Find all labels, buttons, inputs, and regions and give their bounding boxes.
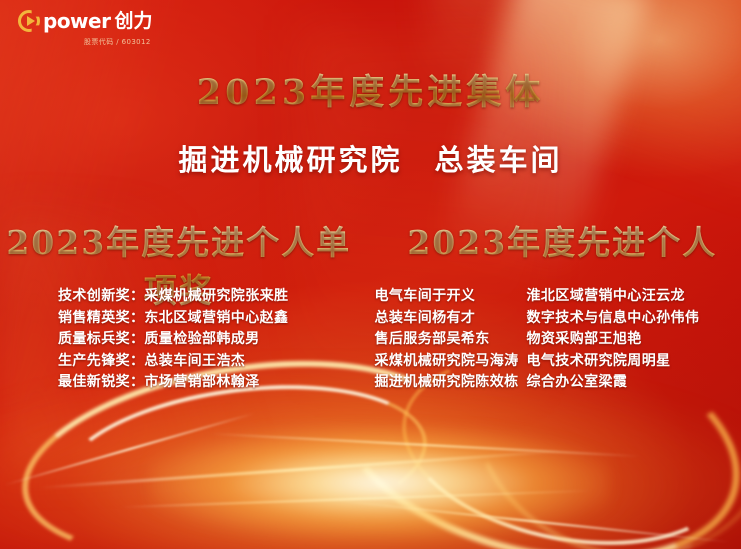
stock-code-label: 股票代码 / 603012 [84, 37, 208, 47]
list-item: 售后服务部吴希东 物资采购部王旭艳 [375, 329, 741, 351]
single-award-list: 技术创新奖：采煤机械研究院张来胜 销售精英奖：东北区域营销中心赵鑫 质量标兵奖：… [0, 286, 371, 394]
glow-decoration [0, 368, 741, 549]
light-streak [331, 499, 729, 543]
list-item: 技术创新奖：采煤机械研究院张来胜 [58, 286, 371, 308]
list-item: 质量标兵奖：质量检验部韩成男 [58, 329, 371, 351]
winner-columns: 技术创新奖：采煤机械研究院张来胜 销售精英奖：东北区域营销中心赵鑫 质量标兵奖：… [0, 286, 741, 394]
winner-name: 淮北区域营销中心汪云龙 [527, 286, 685, 308]
list-item: 掘进机械研究院陈效栋 综合办公室梁霞 [375, 372, 741, 394]
advanced-individual-list: 电气车间于开义 淮北区域营销中心汪云龙 总装车间杨有才 数字技术与信息中心孙伟伟… [371, 286, 741, 394]
winner-name: 采煤机械研究院马海涛 [375, 351, 527, 373]
list-item: 采煤机械研究院马海涛 电气技术研究院周明星 [375, 351, 741, 373]
winner-name: 电气车间于开义 [375, 286, 527, 308]
list-item: 销售精英奖：东北区域营销中心赵鑫 [58, 308, 371, 330]
award-poster: power 创力 股票代码 / 603012 2023年度先进集体 掘进机械研究… [0, 0, 741, 549]
logo-wordmark: power [43, 11, 110, 31]
glow-core-decoration [150, 428, 610, 538]
winner-name: 数字技术与信息中心孙伟伟 [527, 308, 700, 330]
light-streak [210, 433, 640, 458]
logo-chinese-name: 创力 [114, 12, 152, 31]
winner-name: 物资采购部王旭艳 [527, 329, 642, 351]
c-power-logo-icon [18, 10, 40, 32]
page-title: 2023年度先进集体 [0, 64, 741, 115]
winner-name: 总装车间杨有才 [375, 308, 527, 330]
winner-name: 售后服务部吴希东 [375, 329, 527, 351]
light-streak [41, 450, 560, 489]
list-item: 电气车间于开义 淮北区域营销中心汪云龙 [375, 286, 741, 308]
light-streak [120, 490, 590, 508]
winner-name: 电气技术研究院周明星 [527, 351, 671, 373]
winner-name: 综合办公室梁霞 [527, 372, 628, 394]
company-logo: power 创力 股票代码 / 603012 [18, 10, 208, 47]
collective-winners: 掘进机械研究院 总装车间 [0, 137, 741, 179]
light-streak [5, 412, 255, 486]
list-item: 最佳新锐奖：市场营销部林翰泽 [58, 372, 371, 394]
list-item: 生产先锋奖：总装车间王浩杰 [58, 351, 371, 373]
winner-name: 掘进机械研究院陈效栋 [375, 372, 527, 394]
list-item: 总装车间杨有才 数字技术与信息中心孙伟伟 [375, 308, 741, 330]
